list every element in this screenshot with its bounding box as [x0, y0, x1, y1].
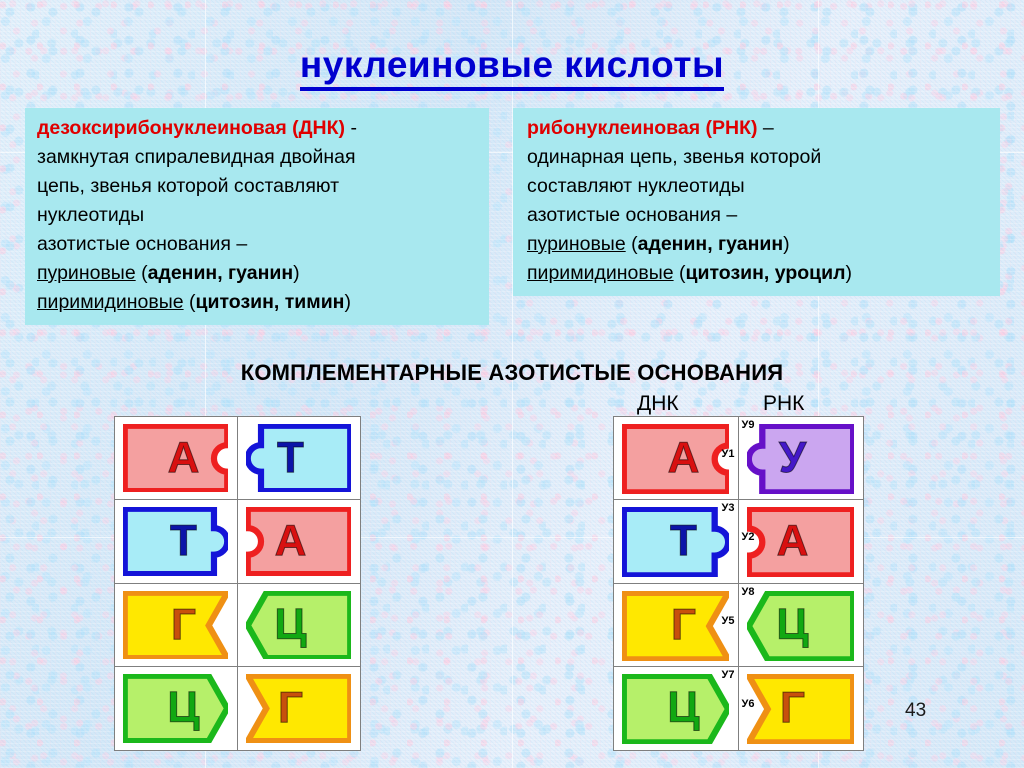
dna-heading-suffix: - [345, 117, 357, 139]
nucleotide-letter: А [668, 436, 700, 480]
section-heading: КОМПЛЕМЕНТАРНЫЕ АЗОТИСТЫЕ ОСНОВАНИЯ [0, 360, 1024, 386]
rna-line-1: одинарная цепь, звенья которой [527, 143, 1000, 172]
puzzle-cell[interactable]: А [237, 499, 361, 584]
nucleotide-tile-Т[interactable]: Т [622, 507, 730, 576]
puzzle-cell[interactable]: У5Г [613, 583, 739, 668]
nucleotide-letter: Ц [776, 603, 808, 647]
nucleotide-tile-Т[interactable]: Т [246, 424, 352, 493]
nucleotide-letter: А [275, 519, 307, 563]
rna-line-3: азотистые основания – [527, 201, 1000, 230]
nucleotide-letter: Ц [167, 686, 199, 730]
puzzle-cell[interactable]: Ц [114, 666, 238, 751]
rna-definition-panel: рибонуклеиновая (РНК) – одинарная цепь, … [513, 108, 1000, 296]
nucleotide-letter: Г [780, 686, 805, 730]
dna-heading: дезоксирибонуклеиновая (ДНК) [37, 117, 345, 139]
nucleotide-tile-Т[interactable]: Т [123, 507, 229, 576]
puzzle-cell[interactable]: У6Г [738, 666, 864, 751]
puzzle-cell[interactable]: У9У [738, 416, 864, 501]
nucleotide-tile-Ц[interactable]: Ц [747, 591, 855, 660]
column-caption-rna: РНК [763, 392, 804, 416]
page-title-text: нуклеиновые кислоты [300, 44, 724, 91]
dna-pyrimidine-line: пиримидиновые (цитозин, тимин) [37, 288, 489, 317]
rna-pyrimidine-label: пиримидиновые [527, 262, 674, 284]
puzzle-grid-dna-dna: АТТАГЦЦГ [114, 416, 360, 750]
nucleotide-letter: Т [670, 519, 697, 563]
page-number: 43 [905, 700, 926, 722]
dna-line-1: замкнутая спиралевидная двойная [37, 143, 489, 172]
dna-line-3: нуклеотиды [37, 201, 489, 230]
nucleotide-tile-Г[interactable]: Г [246, 674, 352, 743]
dna-purine-line: пуриновые (аденин, гуанин) [37, 259, 489, 288]
puzzle-cell-code: У5 [722, 615, 735, 627]
nucleotide-tile-Г[interactable]: Г [123, 591, 229, 660]
nucleotide-tile-Г[interactable]: Г [622, 591, 730, 660]
nucleotide-tile-А[interactable]: А [747, 507, 855, 576]
nucleotide-tile-Ц[interactable]: Ц [246, 591, 352, 660]
puzzle-cell-code: У7 [722, 669, 735, 681]
rna-heading: рибонуклеиновая (РНК) [527, 117, 757, 139]
nucleotide-tile-А[interactable]: А [622, 424, 730, 493]
rna-pyrimidine-value: (цитозин, уроцил) [674, 262, 852, 284]
puzzle-cell-code: У8 [742, 586, 755, 598]
rna-purine-line: пуриновые (аденин, гуанин) [527, 230, 1000, 259]
dna-pyrimidine-value: (цитозин, тимин) [184, 291, 351, 313]
puzzle-cell[interactable]: У2А [738, 499, 864, 584]
puzzle-cell-code: У3 [722, 502, 735, 514]
nucleotide-letter: Ц [667, 686, 699, 730]
rna-heading-line: рибонуклеиновая (РНК) – [527, 114, 1000, 143]
puzzle-cell[interactable]: У1А [613, 416, 739, 501]
nucleotide-letter: Т [277, 436, 304, 480]
nucleotide-tile-Ц[interactable]: Ц [123, 674, 229, 743]
rna-purine-value: (аденин, гуанин) [626, 233, 790, 255]
dna-purine-value: (аденин, гуанин) [136, 262, 300, 284]
puzzle-cell[interactable]: У7Ц [613, 666, 739, 751]
rna-line-2: составляют нуклеотиды [527, 172, 1000, 201]
nucleotide-letter: А [777, 519, 809, 563]
puzzle-cell[interactable]: Г [114, 583, 238, 668]
nucleotide-letter: А [168, 436, 200, 480]
puzzle-cell[interactable]: Ц [237, 583, 361, 668]
puzzle-grid-dna-rna: У1АУ9УУ3ТУ2АУ5ГУ8ЦУ7ЦУ6Г [613, 416, 863, 750]
puzzle-cell[interactable]: Г [237, 666, 361, 751]
puzzle-cell[interactable]: А [114, 416, 238, 501]
puzzle-cell[interactable]: Т [114, 499, 238, 584]
dna-line-2: цепь, звенья которой составляют [37, 172, 489, 201]
dna-heading-line: дезоксирибонуклеиновая (ДНК) - [37, 114, 489, 143]
nucleotide-letter: Ц [274, 603, 306, 647]
dna-definition-panel: дезоксирибонуклеиновая (ДНК) - замкнутая… [25, 108, 489, 325]
puzzle-cell[interactable]: Т [237, 416, 361, 501]
puzzle-cell-code: У6 [742, 698, 755, 710]
nucleotide-letter: Т [170, 519, 197, 563]
nucleotide-letter: Г [171, 603, 196, 647]
nucleotide-tile-Г[interactable]: Г [747, 674, 855, 743]
dna-line-4: азотистые основания – [37, 230, 489, 259]
puzzle-cell-code: У9 [742, 419, 755, 431]
nucleotide-tile-А[interactable]: А [246, 507, 352, 576]
rna-pyrimidine-line: пиримидиновые (цитозин, уроцил) [527, 259, 1000, 288]
nucleotide-letter: Г [278, 686, 303, 730]
nucleotide-tile-Ц[interactable]: Ц [622, 674, 730, 743]
puzzle-cell-code: У2 [742, 531, 755, 543]
page-title: нуклеиновые кислоты [0, 44, 1024, 86]
nucleotide-tile-А[interactable]: А [123, 424, 229, 493]
nucleotide-tile-У[interactable]: У [747, 424, 855, 493]
puzzle-cell[interactable]: У8Ц [738, 583, 864, 668]
column-caption-dna: ДНК [637, 392, 679, 416]
rna-heading-suffix: – [757, 117, 773, 139]
puzzle-cell[interactable]: У3Т [613, 499, 739, 584]
nucleotide-letter: У [779, 436, 806, 480]
dna-purine-label: пуриновые [37, 262, 136, 284]
nucleotide-letter: Г [671, 603, 696, 647]
puzzle-cell-code: У1 [722, 448, 735, 460]
dna-pyrimidine-label: пиримидиновые [37, 291, 184, 313]
rna-purine-label: пуриновые [527, 233, 626, 255]
